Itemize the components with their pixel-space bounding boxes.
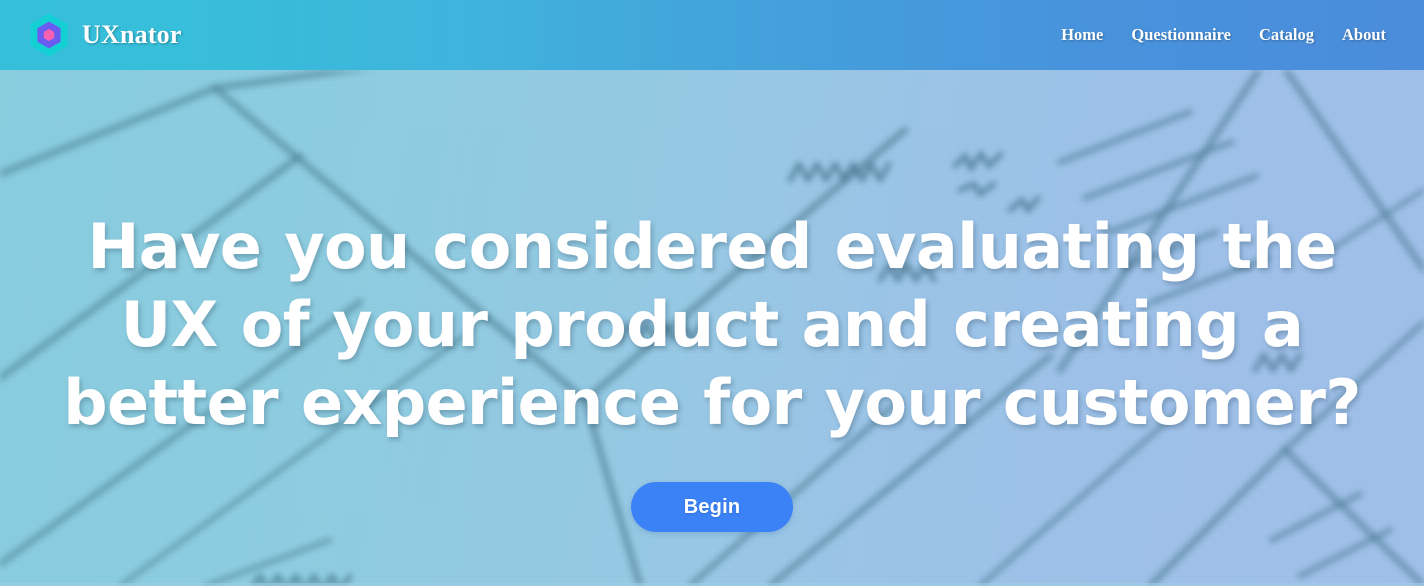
hexagon-logo-icon [28,12,70,58]
nav-link-catalog[interactable]: Catalog [1245,19,1328,51]
nav-link-questionnaire[interactable]: Questionnaire [1117,19,1245,51]
nav-link-about[interactable]: About [1328,19,1386,51]
hero-section: Have you considered evaluating the UX of… [0,70,1424,586]
brand-logo-link[interactable]: UXnator [28,12,182,58]
hero-content: Have you considered evaluating the UX of… [0,70,1424,586]
begin-button[interactable]: Begin [631,482,793,532]
primary-navigation: Home Questionnaire Catalog About [1047,19,1386,51]
hero-headline: Have you considered evaluating the UX of… [62,208,1362,442]
hero-cta-container: Begin [0,482,1424,532]
brand-name: UXnator [82,22,182,48]
nav-link-home[interactable]: Home [1047,19,1117,51]
site-header: UXnator Home Questionnaire Catalog About [0,0,1424,70]
